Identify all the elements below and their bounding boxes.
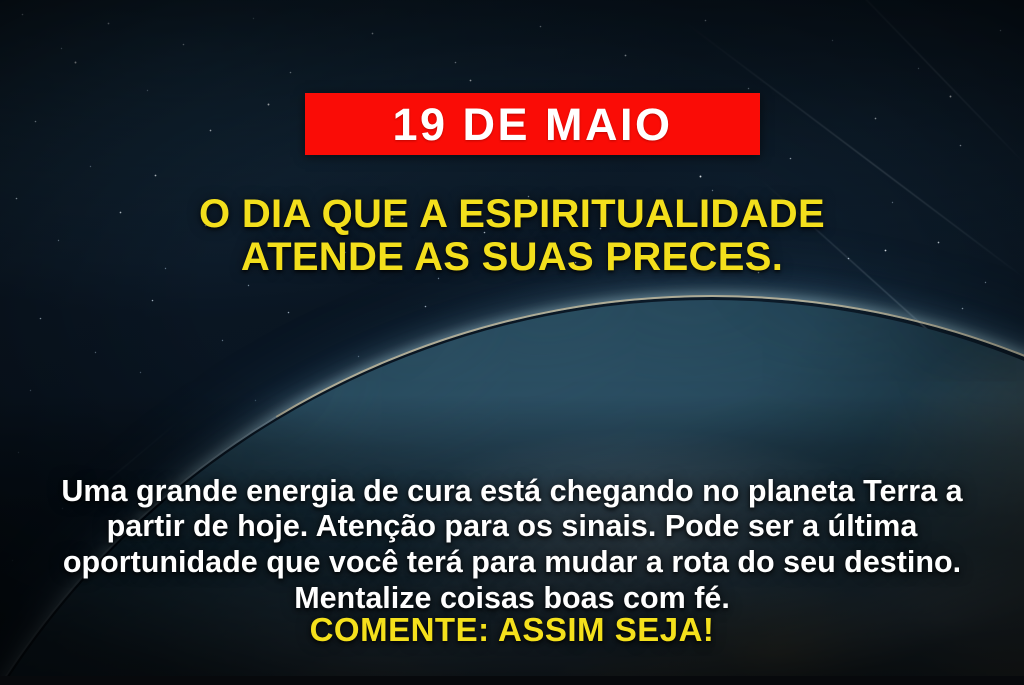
- date-badge-label: 19 DE MAIO: [392, 102, 672, 147]
- poster-canvas: 19 DE MAIO O DIA QUE A ESPIRITUALIDADE A…: [0, 0, 1024, 685]
- body-paragraph: Uma grande energia de cura está chegando…: [0, 474, 1024, 618]
- headline-line-1: O DIA QUE A ESPIRITUALIDADE: [199, 192, 825, 236]
- headline-line-2: ATENDE AS SUAS PRECES.: [46, 236, 978, 279]
- poster-content: 19 DE MAIO O DIA QUE A ESPIRITUALIDADE A…: [0, 0, 1024, 685]
- date-badge: 19 DE MAIO: [305, 93, 760, 155]
- call-to-action-text: COMENTE: ASSIM SEJA!: [0, 613, 1024, 646]
- page-title: O DIA QUE A ESPIRITUALIDADE ATENDE AS SU…: [0, 193, 1024, 279]
